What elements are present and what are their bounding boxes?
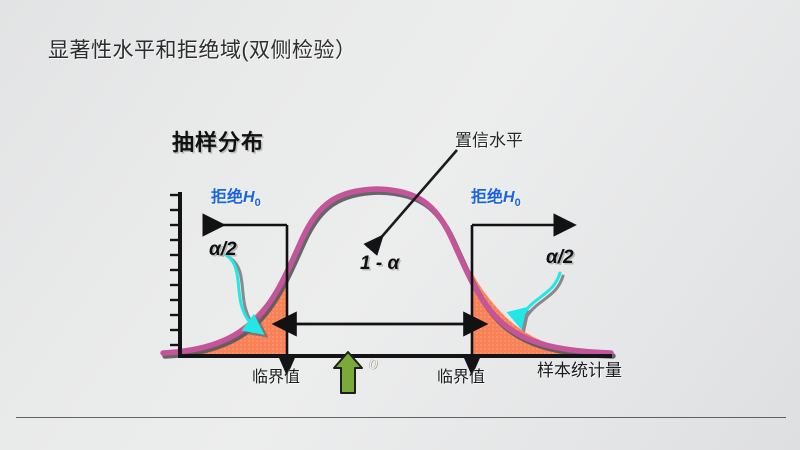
confidence-level-label: 置信水平: [455, 132, 523, 149]
h-subscript: 0: [515, 197, 521, 209]
alpha-right-pointer-shadow: [524, 276, 563, 330]
h-symbol: H: [503, 189, 515, 206]
sampling-distribution-chart: [0, 0, 800, 450]
h-subscript: 0: [255, 197, 261, 209]
reject-h0-label-left: 拒绝H0: [211, 190, 261, 209]
x-axis-label: 样本统计量: [537, 362, 622, 379]
critical-value-label-left: 临界值: [252, 370, 300, 386]
slide-canvas: 显著性水平和拒绝域(双侧检验）: [0, 0, 800, 450]
reject-text: 拒绝: [471, 189, 503, 206]
alpha-over-two-label-right: α/2: [546, 248, 574, 267]
one-minus-alpha-label: 1 - α: [360, 254, 399, 273]
mean-up-arrow: [334, 352, 362, 393]
reject-h0-label-right: 拒绝H0: [471, 190, 521, 209]
h-symbol: H: [243, 189, 255, 206]
chart-title: 抽样分布: [172, 132, 264, 154]
reject-text: 拒绝: [211, 189, 243, 206]
confidence-level-leader: [372, 150, 457, 248]
bell-curve-shadow: [165, 192, 613, 356]
alpha-over-two-label-left: α/2: [209, 240, 237, 259]
critical-value-label-right: 临界值: [437, 370, 485, 386]
zero-mean-label: 0: [369, 357, 377, 372]
